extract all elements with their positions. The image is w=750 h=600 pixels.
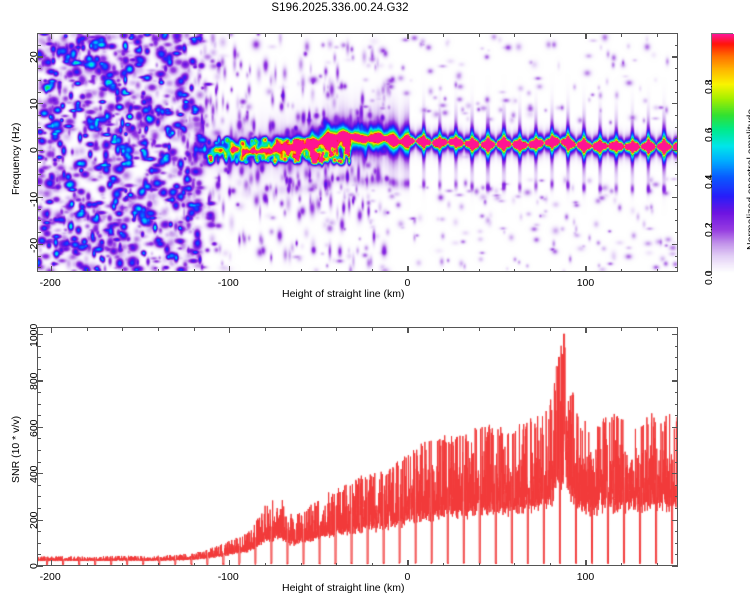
snr-xtick	[229, 560, 230, 566]
snr-ytick-minor-right	[675, 531, 679, 532]
spectrogram-ytick-minor-right	[675, 174, 679, 175]
snr-xtick-minor-top	[372, 327, 373, 331]
spectrogram-ytick-label: -10	[28, 191, 40, 206]
spectrogram-ytick-minor-right	[675, 33, 679, 34]
snr-ytick-minor-right	[675, 496, 679, 497]
snr-ytick-minor	[37, 531, 41, 532]
spectrogram-xtick-minor-top	[443, 33, 444, 37]
spectrogram-xtick-minor	[621, 269, 622, 273]
spectrogram-ytick-minor	[37, 162, 41, 163]
snr-xtick-minor	[122, 563, 123, 567]
spectrogram-xtick-minor-top	[87, 33, 88, 37]
snr-xtick-minor-top	[87, 327, 88, 331]
snr-xtick-minor-top	[479, 327, 480, 331]
spectrogram-xtick-minor	[301, 269, 302, 273]
snr-ytick-minor-right	[675, 392, 679, 393]
colorbar-tick-label: 0.0	[703, 270, 715, 285]
spectrogram-ytick-minor	[37, 209, 41, 210]
snr-ytick-minor-right	[675, 404, 679, 405]
spectrogram-ytick-minor	[37, 115, 41, 116]
figure-root: S196.2025.336.00.24.G32 -200-1000100-20-…	[0, 0, 750, 600]
snr-panel	[37, 327, 678, 566]
spectrogram-xtick-minor-top	[479, 33, 480, 37]
spectrogram-xtick-label: 100	[577, 277, 595, 289]
spectrogram-ytick-minor	[37, 80, 41, 81]
snr-ytick-minor	[37, 543, 41, 544]
spectrogram-ytick-minor	[37, 92, 41, 93]
spectrogram-ytick-minor	[37, 232, 41, 233]
spectrogram-ytick-minor-right	[675, 232, 679, 233]
snr-xtick-minor	[372, 563, 373, 567]
snr-ytick-minor	[37, 404, 41, 405]
snr-ytick-minor	[37, 392, 41, 393]
snr-ytick-minor	[37, 554, 41, 555]
spectrogram-xtick-minor	[479, 269, 480, 273]
spectrogram-xtick-top	[229, 33, 230, 39]
snr-ytick-right	[672, 427, 678, 428]
spectrogram-yaxis-label: Frequency (Hz)	[10, 123, 22, 195]
spectrogram-ytick-label: -20	[28, 238, 40, 253]
snr-ytick-right	[672, 566, 678, 567]
spectrogram-canvas	[37, 33, 678, 272]
snr-ytick-label: 400	[28, 466, 40, 484]
spectrogram-xtick-minor	[372, 269, 373, 273]
snr-yaxis-label: SNR (10 * v/v)	[10, 416, 22, 483]
spectrogram-ytick-minor-right	[675, 68, 679, 69]
spectrogram-ytick-right	[672, 197, 678, 198]
snr-xtick-top	[585, 327, 586, 333]
spectrogram-xtick	[407, 266, 408, 272]
spectrogram-xtick-minor	[550, 269, 551, 273]
spectrogram-xtick-minor-top	[194, 33, 195, 37]
snr-ytick-label: 1000	[28, 324, 40, 347]
snr-xtick-minor	[657, 563, 658, 567]
snr-ytick-minor	[37, 369, 41, 370]
snr-xtick-minor	[87, 563, 88, 567]
spectrogram-xtick-minor-top	[301, 33, 302, 37]
spectrogram-panel	[37, 33, 678, 272]
spectrogram-xtick-minor	[514, 269, 515, 273]
snr-xtick-minor	[621, 563, 622, 567]
snr-xtick-label: -200	[40, 571, 61, 583]
spectrogram-ytick-label: 20	[28, 51, 40, 63]
spectrogram-ytick-minor-right	[675, 45, 679, 46]
snr-ytick-minor	[37, 438, 41, 439]
spectrogram-ytick-minor	[37, 68, 41, 69]
snr-ytick-label: 800	[28, 373, 40, 391]
colorbar-tick-label: 0.8	[703, 79, 715, 94]
spectrogram-ytick-minor-right	[675, 115, 679, 116]
spectrogram-xtick-minor-top	[336, 33, 337, 37]
spectrogram-xtick-minor-top	[514, 33, 515, 37]
snr-ytick-minor-right	[675, 357, 679, 358]
snr-ytick-right	[672, 334, 678, 335]
spectrogram-ytick-minor-right	[675, 162, 679, 163]
snr-xtick-minor	[158, 563, 159, 567]
figure-title: S196.2025.336.00.24.G32	[0, 2, 680, 14]
spectrogram-ytick-minor	[37, 138, 41, 139]
spectrogram-xtick-top	[585, 33, 586, 39]
spectrogram-ytick-minor	[37, 267, 41, 268]
snr-xtick-label: -100	[218, 571, 239, 583]
spectrogram-ytick-right	[672, 244, 678, 245]
spectrogram-ytick-minor	[37, 33, 41, 34]
snr-xtick-minor-top	[265, 327, 266, 331]
snr-ytick-label: 0	[28, 563, 40, 569]
snr-ytick-minor	[37, 508, 41, 509]
snr-xtick	[407, 560, 408, 566]
snr-ytick-label: 600	[28, 419, 40, 437]
spectrogram-xtick-minor-top	[657, 33, 658, 37]
spectrogram-xtick-label: 0	[404, 277, 410, 289]
snr-xtick-minor-top	[443, 327, 444, 331]
spectrogram-ytick-minor-right	[675, 92, 679, 93]
snr-ytick-right	[672, 520, 678, 521]
snr-ytick-minor-right	[675, 438, 679, 439]
spectrogram-xtick-minor	[443, 269, 444, 273]
snr-xtick-top	[229, 327, 230, 333]
snr-xtick-minor	[336, 563, 337, 567]
spectrogram-ytick-minor-right	[675, 220, 679, 221]
spectrogram-xtick-label: -200	[40, 277, 61, 289]
snr-ytick-minor	[37, 462, 41, 463]
spectrogram-ytick-right	[672, 150, 678, 151]
snr-xtick-minor-top	[657, 327, 658, 331]
spectrogram-xtick-label: -100	[218, 277, 239, 289]
spectrogram-xtick-top	[407, 33, 408, 39]
snr-ytick-minor	[37, 450, 41, 451]
spectrogram-ytick-minor	[37, 220, 41, 221]
spectrogram-xtick	[585, 266, 586, 272]
snr-ytick-minor-right	[675, 450, 679, 451]
colorbar-tick-label: 0.4	[703, 175, 715, 190]
spectrogram-xtick-minor	[158, 269, 159, 273]
spectrogram-xtick	[229, 266, 230, 272]
colorbar-tick-label: 0.6	[703, 127, 715, 142]
snr-ytick-minor-right	[675, 485, 679, 486]
snr-xtick-minor	[443, 563, 444, 567]
snr-xtick-top	[407, 327, 408, 333]
snr-xtick-minor	[550, 563, 551, 567]
spectrogram-xtick-minor	[122, 269, 123, 273]
snr-ytick-minor	[37, 496, 41, 497]
snr-xtick-minor	[514, 563, 515, 567]
snr-xtick-label: 0	[404, 571, 410, 583]
snr-ytick-minor	[37, 357, 41, 358]
snr-ytick-label: 200	[28, 512, 40, 530]
snr-ytick-minor-right	[675, 554, 679, 555]
snr-ytick-minor-right	[675, 543, 679, 544]
snr-ytick-right	[672, 473, 678, 474]
snr-xtick	[585, 560, 586, 566]
spectrogram-ytick-minor	[37, 256, 41, 257]
snr-xtick-minor	[194, 563, 195, 567]
snr-ytick-right	[672, 380, 678, 381]
snr-ytick-minor	[37, 485, 41, 486]
spectrogram-xtick-top	[51, 33, 52, 39]
spectrogram-xaxis-label: Height of straight line (km)	[282, 288, 405, 300]
spectrogram-ytick-minor-right	[675, 256, 679, 257]
spectrogram-ytick-minor	[37, 127, 41, 128]
spectrogram-xtick-minor-top	[372, 33, 373, 37]
spectrogram-xtick	[51, 266, 52, 272]
snr-ytick-minor-right	[675, 346, 679, 347]
spectrogram-xtick-minor-top	[158, 33, 159, 37]
snr-xtick-label: 100	[577, 571, 595, 583]
spectrogram-ytick-minor	[37, 174, 41, 175]
spectrogram-xtick-minor-top	[621, 33, 622, 37]
spectrogram-ytick-minor-right	[675, 267, 679, 268]
snr-ytick-minor	[37, 415, 41, 416]
snr-ytick-minor	[37, 346, 41, 347]
snr-xtick-minor	[301, 563, 302, 567]
snr-xtick	[51, 560, 52, 566]
colorbar-gradient	[712, 34, 734, 273]
spectrogram-ytick-right	[672, 103, 678, 104]
spectrogram-ytick-minor-right	[675, 127, 679, 128]
spectrogram-ytick-minor-right	[675, 80, 679, 81]
snr-xtick-minor-top	[550, 327, 551, 331]
snr-ytick-minor-right	[675, 415, 679, 416]
spectrogram-xtick-minor	[87, 269, 88, 273]
spectrogram-ytick-minor-right	[675, 138, 679, 139]
snr-xtick-minor-top	[194, 327, 195, 331]
snr-xtick-minor-top	[336, 327, 337, 331]
snr-xtick-minor	[265, 563, 266, 567]
spectrogram-ytick-label: 0	[28, 148, 40, 154]
snr-xtick-minor-top	[122, 327, 123, 331]
spectrogram-ytick-minor-right	[675, 185, 679, 186]
spectrogram-xtick-minor-top	[122, 33, 123, 37]
snr-xtick-minor	[479, 563, 480, 567]
snr-xtick-minor-top	[301, 327, 302, 331]
spectrogram-ytick-right	[672, 56, 678, 57]
snr-plot-area[interactable]	[37, 327, 678, 566]
snr-ytick-minor-right	[675, 508, 679, 509]
snr-xtick-minor-top	[514, 327, 515, 331]
snr-ytick-minor-right	[675, 462, 679, 463]
spectrogram-xtick-minor	[194, 269, 195, 273]
snr-xtick-top	[51, 327, 52, 333]
spectrogram-ytick-minor	[37, 185, 41, 186]
snr-trace-canvas	[37, 327, 678, 566]
colorbar-label: Normalized spectral amplitude	[745, 109, 750, 250]
spectrogram-xtick-minor-top	[265, 33, 266, 37]
snr-xtick-minor-top	[621, 327, 622, 331]
colorbar-tick-label: 0.2	[703, 223, 715, 238]
spectrogram-xtick-minor	[657, 269, 658, 273]
snr-xtick-minor-top	[158, 327, 159, 331]
spectrogram-xtick-minor	[336, 269, 337, 273]
spectrogram-ytick-label: 10	[28, 98, 40, 110]
spectrogram-xtick-minor-top	[550, 33, 551, 37]
spectrogram-xtick-minor	[265, 269, 266, 273]
snr-xaxis-label: Height of straight line (km)	[282, 582, 405, 594]
spectrogram-ytick-minor-right	[675, 209, 679, 210]
spectrogram-plot-area[interactable]	[37, 33, 678, 272]
spectrogram-ytick-minor	[37, 45, 41, 46]
snr-ytick-minor-right	[675, 369, 679, 370]
